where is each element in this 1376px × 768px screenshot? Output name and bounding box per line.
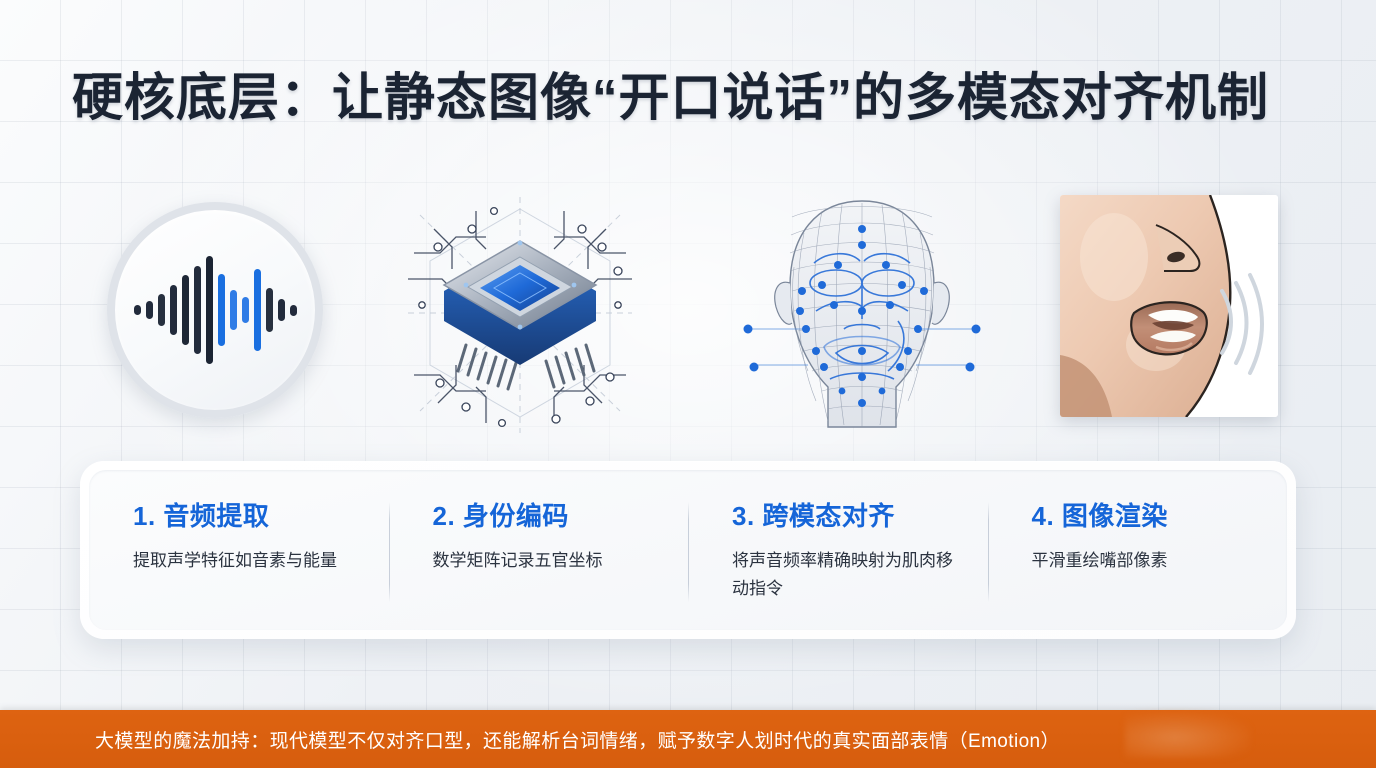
step-title: 2. 身份编码 [433, 496, 655, 533]
lips-icon [1060, 195, 1278, 417]
page-title: 硬核底层：让静态图像“开口说话”的多模态对齐机制 [72, 56, 1269, 130]
step-item-1[interactable]: 1. 音频提取 提取声学特征如音素与能量 [89, 496, 389, 610]
pipeline-stage-face-mesh [738, 195, 986, 435]
step-title: 3. 跨模态对齐 [732, 496, 954, 533]
step-item-3[interactable]: 3. 跨模态对齐 将声音频率精确映射为肌肉移动指令 [688, 496, 988, 610]
step-title: 1. 音频提取 [133, 496, 355, 533]
step-item-4[interactable]: 4. 图像渲染 平滑重绘嘴部像素 [988, 496, 1288, 610]
pipeline-stage-lips [1060, 195, 1278, 417]
pipeline-diagram [0, 195, 1376, 435]
chip-icon [404, 195, 636, 435]
bottom-banner: 大模型的魔法加持：现代模型不仅对齐口型，还能解析台词情绪，赋予数字人划时代的真实… [0, 710, 1376, 768]
step-item-2[interactable]: 2. 身份编码 数学矩阵记录五官坐标 [389, 496, 689, 610]
steps-card-inner: 1. 音频提取 提取声学特征如音素与能量 2. 身份编码 数学矩阵记录五官坐标 … [89, 470, 1287, 630]
steps-card: 1. 音频提取 提取声学特征如音素与能量 2. 身份编码 数学矩阵记录五官坐标 … [80, 461, 1296, 639]
banner-text: 大模型的魔法加持：现代模型不仅对齐口型，还能解析台词情绪，赋予数字人划时代的真实… [0, 726, 1060, 753]
step-description: 平滑重绘嘴部像素 [1032, 547, 1254, 575]
step-description: 将声音频率精确映射为肌肉移动指令 [732, 547, 954, 603]
waveform-icon [107, 202, 323, 418]
pipeline-stage-audio [107, 195, 323, 435]
step-description: 提取声学特征如音素与能量 [133, 547, 355, 575]
step-description: 数学矩阵记录五官坐标 [433, 547, 655, 575]
pipeline-stage-chip [404, 195, 636, 435]
face-mesh-icon [738, 195, 986, 440]
step-title: 4. 图像渲染 [1032, 496, 1254, 533]
